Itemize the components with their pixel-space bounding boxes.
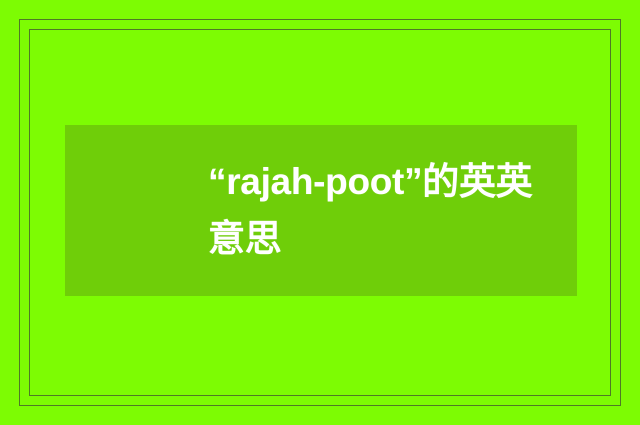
title-card-canvas: “rajah-poot”的英英意思 (0, 0, 640, 425)
headline-panel: “rajah-poot”的英英意思 (65, 125, 577, 296)
headline-text: “rajah-poot”的英英意思 (65, 154, 577, 266)
